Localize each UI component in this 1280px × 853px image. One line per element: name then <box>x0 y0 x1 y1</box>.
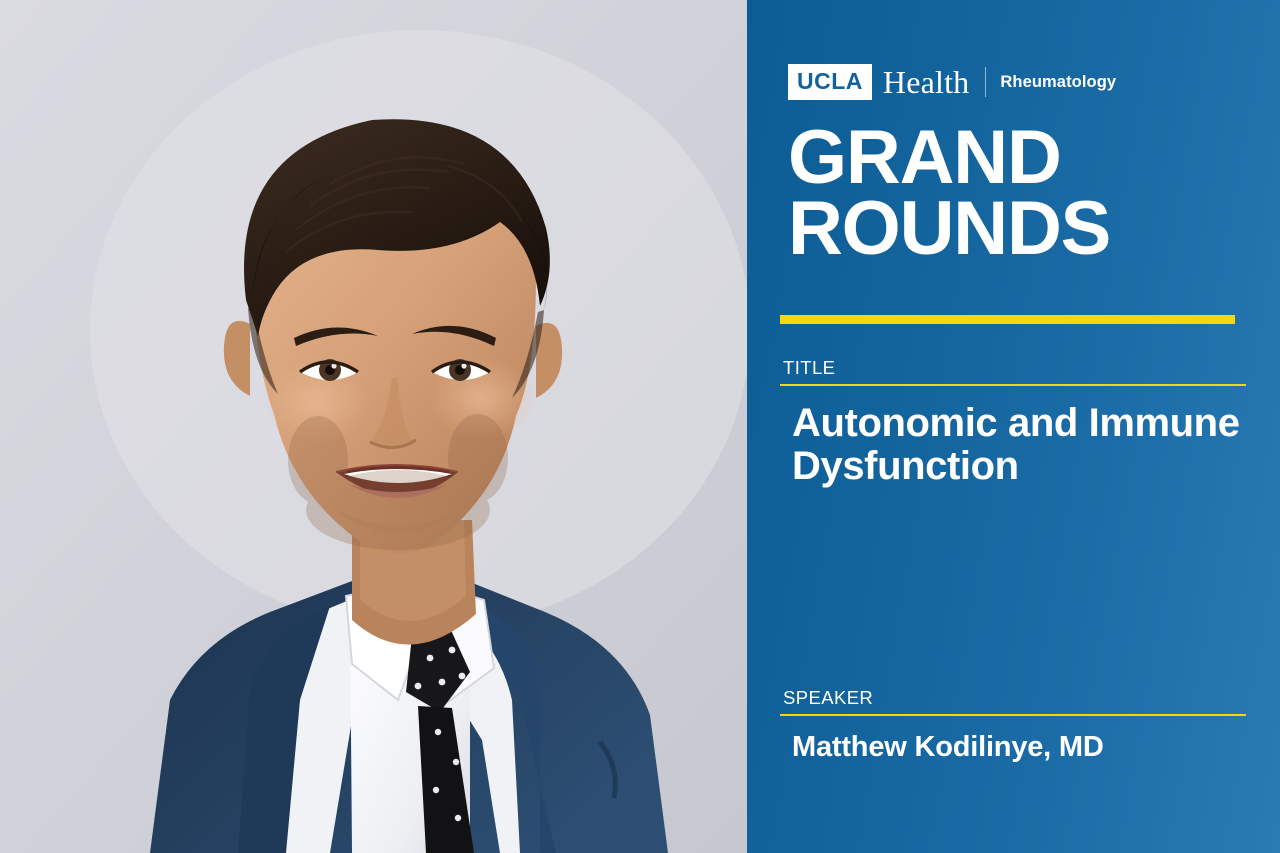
title-label: TITLE <box>780 358 1246 378</box>
ucla-health-wordmark: Health <box>883 66 970 98</box>
speaker-photo <box>0 0 747 853</box>
accent-divider <box>780 315 1235 324</box>
speaker-label: SPEAKER <box>780 688 1246 708</box>
department-name: Rheumatology <box>1000 74 1116 91</box>
speaker-section: SPEAKER Matthew Kodilinye, MD <box>780 688 1246 764</box>
headline-line-2: ROUNDS <box>788 193 1248 264</box>
vertical-divider-icon <box>985 67 986 97</box>
ucla-logo-mark: UCLA <box>788 64 872 100</box>
page-title: GRAND ROUNDS <box>788 122 1248 265</box>
speaker-name: Matthew Kodilinye, MD <box>780 732 1246 764</box>
title-section: TITLE Autonomic and Immune Dysfunction <box>780 358 1246 488</box>
lecture-title: Autonomic and Immune Dysfunction <box>780 402 1246 488</box>
brand-lockup: UCLA Health Rheumatology <box>788 65 1116 99</box>
grand-rounds-slide: UCLA Health Rheumatology GRAND ROUNDS TI… <box>0 0 1280 853</box>
info-panel: UCLA Health Rheumatology GRAND ROUNDS TI… <box>747 0 1280 853</box>
speaker-underline <box>780 714 1246 716</box>
speaker-portrait-illustration <box>0 0 747 853</box>
title-underline <box>780 384 1246 386</box>
headline-line-1: GRAND <box>788 122 1248 193</box>
